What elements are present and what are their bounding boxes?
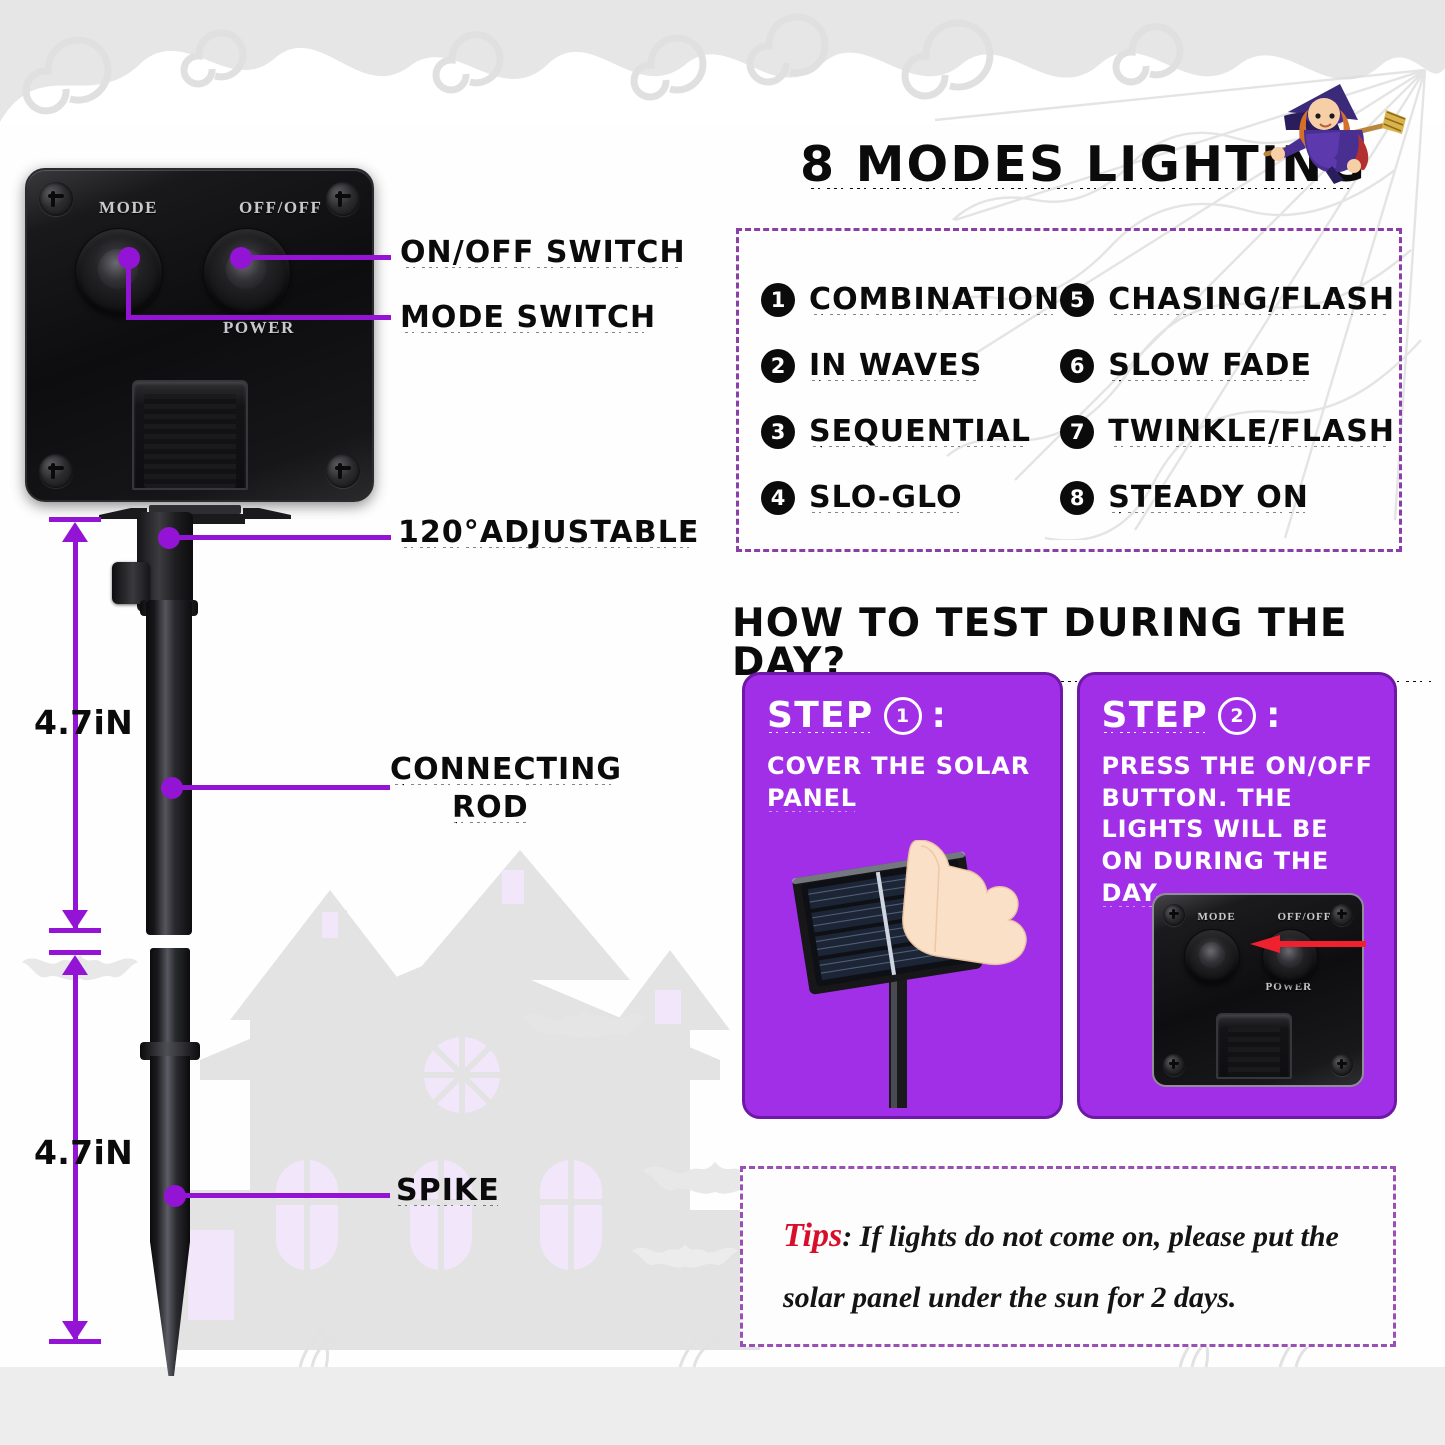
mode-item-5: 5 CHASING/FLASH — [1060, 283, 1395, 317]
press-onoff-illustration: MODE OFF/OFF POWER — [1100, 883, 1375, 1098]
step-2-heading: STEP 2 : — [1102, 695, 1281, 736]
callout-line-onoff — [241, 255, 391, 260]
tilt-knob — [112, 562, 150, 604]
mode-item-8: 8 STEADY ON — [1060, 481, 1395, 515]
screw-icon — [326, 182, 360, 216]
step-1-colon: : — [932, 695, 946, 736]
howto-section-title: HOW TO TEST DURING THE DAY? — [732, 604, 1445, 682]
callout-label-onoff-switch: ON/OFF SWITCH — [400, 238, 686, 268]
step-1-number: 1 — [884, 697, 922, 735]
ground-spike — [150, 1056, 190, 1376]
mounting-bracket — [132, 380, 248, 490]
mode-number-badge: 5 — [1060, 283, 1094, 317]
callout-label-rod: ROD — [452, 793, 529, 823]
mode-label: IN WAVES — [809, 351, 982, 381]
mode-item-1: 1 COMBINATION — [761, 283, 1060, 317]
mode-label: TWINKLE/FLASH — [1108, 417, 1395, 447]
screw-icon — [39, 454, 73, 488]
callout-label-spike: SPIKE — [396, 1176, 500, 1206]
right-content-column: 8 MODES LIGHTING — [728, 0, 1445, 1445]
mode-number-badge: 3 — [761, 415, 795, 449]
modes-list-box: 1 COMBINATION 5 CHASING/FLASH 2 IN WAVES… — [736, 228, 1402, 552]
step-1-body-text: COVER THE SOLAR PANEL — [767, 752, 1030, 812]
steps-container: STEP 1 : COVER THE SOLAR PANEL — [742, 672, 1397, 1119]
screw-icon — [1331, 1054, 1353, 1076]
mini-mode-button[interactable] — [1184, 929, 1240, 985]
panel-onoff-label: OFF/OFF — [239, 198, 322, 218]
screw-icon — [1331, 904, 1353, 926]
solar-control-panel: MODE OFF/OFF POWER — [25, 168, 374, 502]
cover-solar-panel-illustration — [769, 840, 1039, 1110]
panel-power-label: POWER — [223, 318, 295, 338]
screw-icon — [39, 182, 73, 216]
mode-number-badge: 6 — [1060, 349, 1094, 383]
mode-number-badge: 4 — [761, 481, 795, 515]
callout-label-mode-switch: MODE SWITCH — [400, 303, 656, 333]
screw-icon — [1163, 1054, 1185, 1076]
step-card-1: STEP 1 : COVER THE SOLAR PANEL — [742, 672, 1063, 1119]
tips-box: Tips: If lights do not come on, please p… — [740, 1166, 1396, 1347]
control-panel-mini: MODE OFF/OFF POWER — [1152, 893, 1364, 1087]
onoff-button[interactable] — [203, 228, 291, 316]
mode-number-badge: 2 — [761, 349, 795, 383]
product-diagram: MODE OFF/OFF POWER 4.7iN — [0, 0, 740, 1445]
mode-item-7: 7 TWINKLE/FLASH — [1060, 415, 1395, 449]
mode-item-3: 3 SEQUENTIAL — [761, 415, 1060, 449]
mode-label: SEQUENTIAL — [809, 417, 1031, 447]
callout-label-connecting: CONNECTING — [390, 755, 622, 785]
step-1-heading: STEP 1 : — [767, 695, 946, 736]
mini-mounting-bracket — [1216, 1013, 1292, 1079]
callout-line-connecting-rod — [172, 785, 390, 790]
step-2-number: 2 — [1218, 697, 1256, 735]
tips-keyword: Tips — [783, 1217, 842, 1254]
mode-label: CHASING/FLASH — [1108, 285, 1395, 315]
witch-on-broom-icon — [1248, 72, 1408, 187]
mode-number-badge: 1 — [761, 283, 795, 317]
mode-number-badge: 8 — [1060, 481, 1094, 515]
step-1-body: COVER THE SOLAR PANEL — [767, 751, 1044, 814]
tips-text-wrap: Tips: If lights do not come on, please p… — [783, 1203, 1367, 1328]
panel-mode-label: MODE — [99, 198, 158, 218]
step-1-head-text: STEP — [767, 698, 874, 734]
connecting-rod — [146, 600, 192, 935]
mini-mode-label: MODE — [1198, 911, 1236, 923]
mode-item-6: 6 SLOW FADE — [1060, 349, 1395, 383]
tips-body: : If lights do not come on, please put t… — [783, 1220, 1339, 1314]
infographic-page: MODE OFF/OFF POWER 4.7iN — [0, 0, 1445, 1445]
callout-line-mode-vertical — [126, 258, 131, 320]
callout-line-mode-horizontal — [126, 315, 391, 320]
mode-item-4: 4 SLO-GLO — [761, 481, 1060, 515]
mode-label: COMBINATION — [809, 285, 1060, 315]
step-2-colon: : — [1266, 695, 1280, 736]
dimension-label-spike: 4.7iN — [34, 1133, 133, 1172]
mode-label: SLOW FADE — [1108, 351, 1312, 381]
mode-label: STEADY ON — [1108, 483, 1309, 513]
screw-icon — [1163, 904, 1185, 926]
step-2-head-text: STEP — [1102, 698, 1209, 734]
callout-label-adjustable: 120°ADJUSTABLE — [398, 518, 699, 548]
mini-onoff-label: OFF/OFF — [1278, 911, 1332, 923]
red-pointer-arrow-icon — [1246, 933, 1366, 955]
mode-item-2: 2 IN WAVES — [761, 349, 1060, 383]
dimension-label-rod: 4.7iN — [34, 703, 133, 742]
modes-grid: 1 COMBINATION 5 CHASING/FLASH 2 IN WAVES… — [739, 231, 1399, 549]
callout-line-spike — [175, 1193, 390, 1198]
mode-button[interactable] — [75, 228, 163, 316]
screw-icon — [326, 454, 360, 488]
mode-number-badge: 7 — [1060, 415, 1094, 449]
tilt-mount-plate — [95, 505, 295, 525]
callout-line-adjustable — [169, 535, 391, 540]
mode-label: SLO-GLO — [809, 483, 963, 513]
step-card-2: STEP 2 : PRESS THE ON/OFF BUTTON. THE LI… — [1077, 672, 1398, 1119]
